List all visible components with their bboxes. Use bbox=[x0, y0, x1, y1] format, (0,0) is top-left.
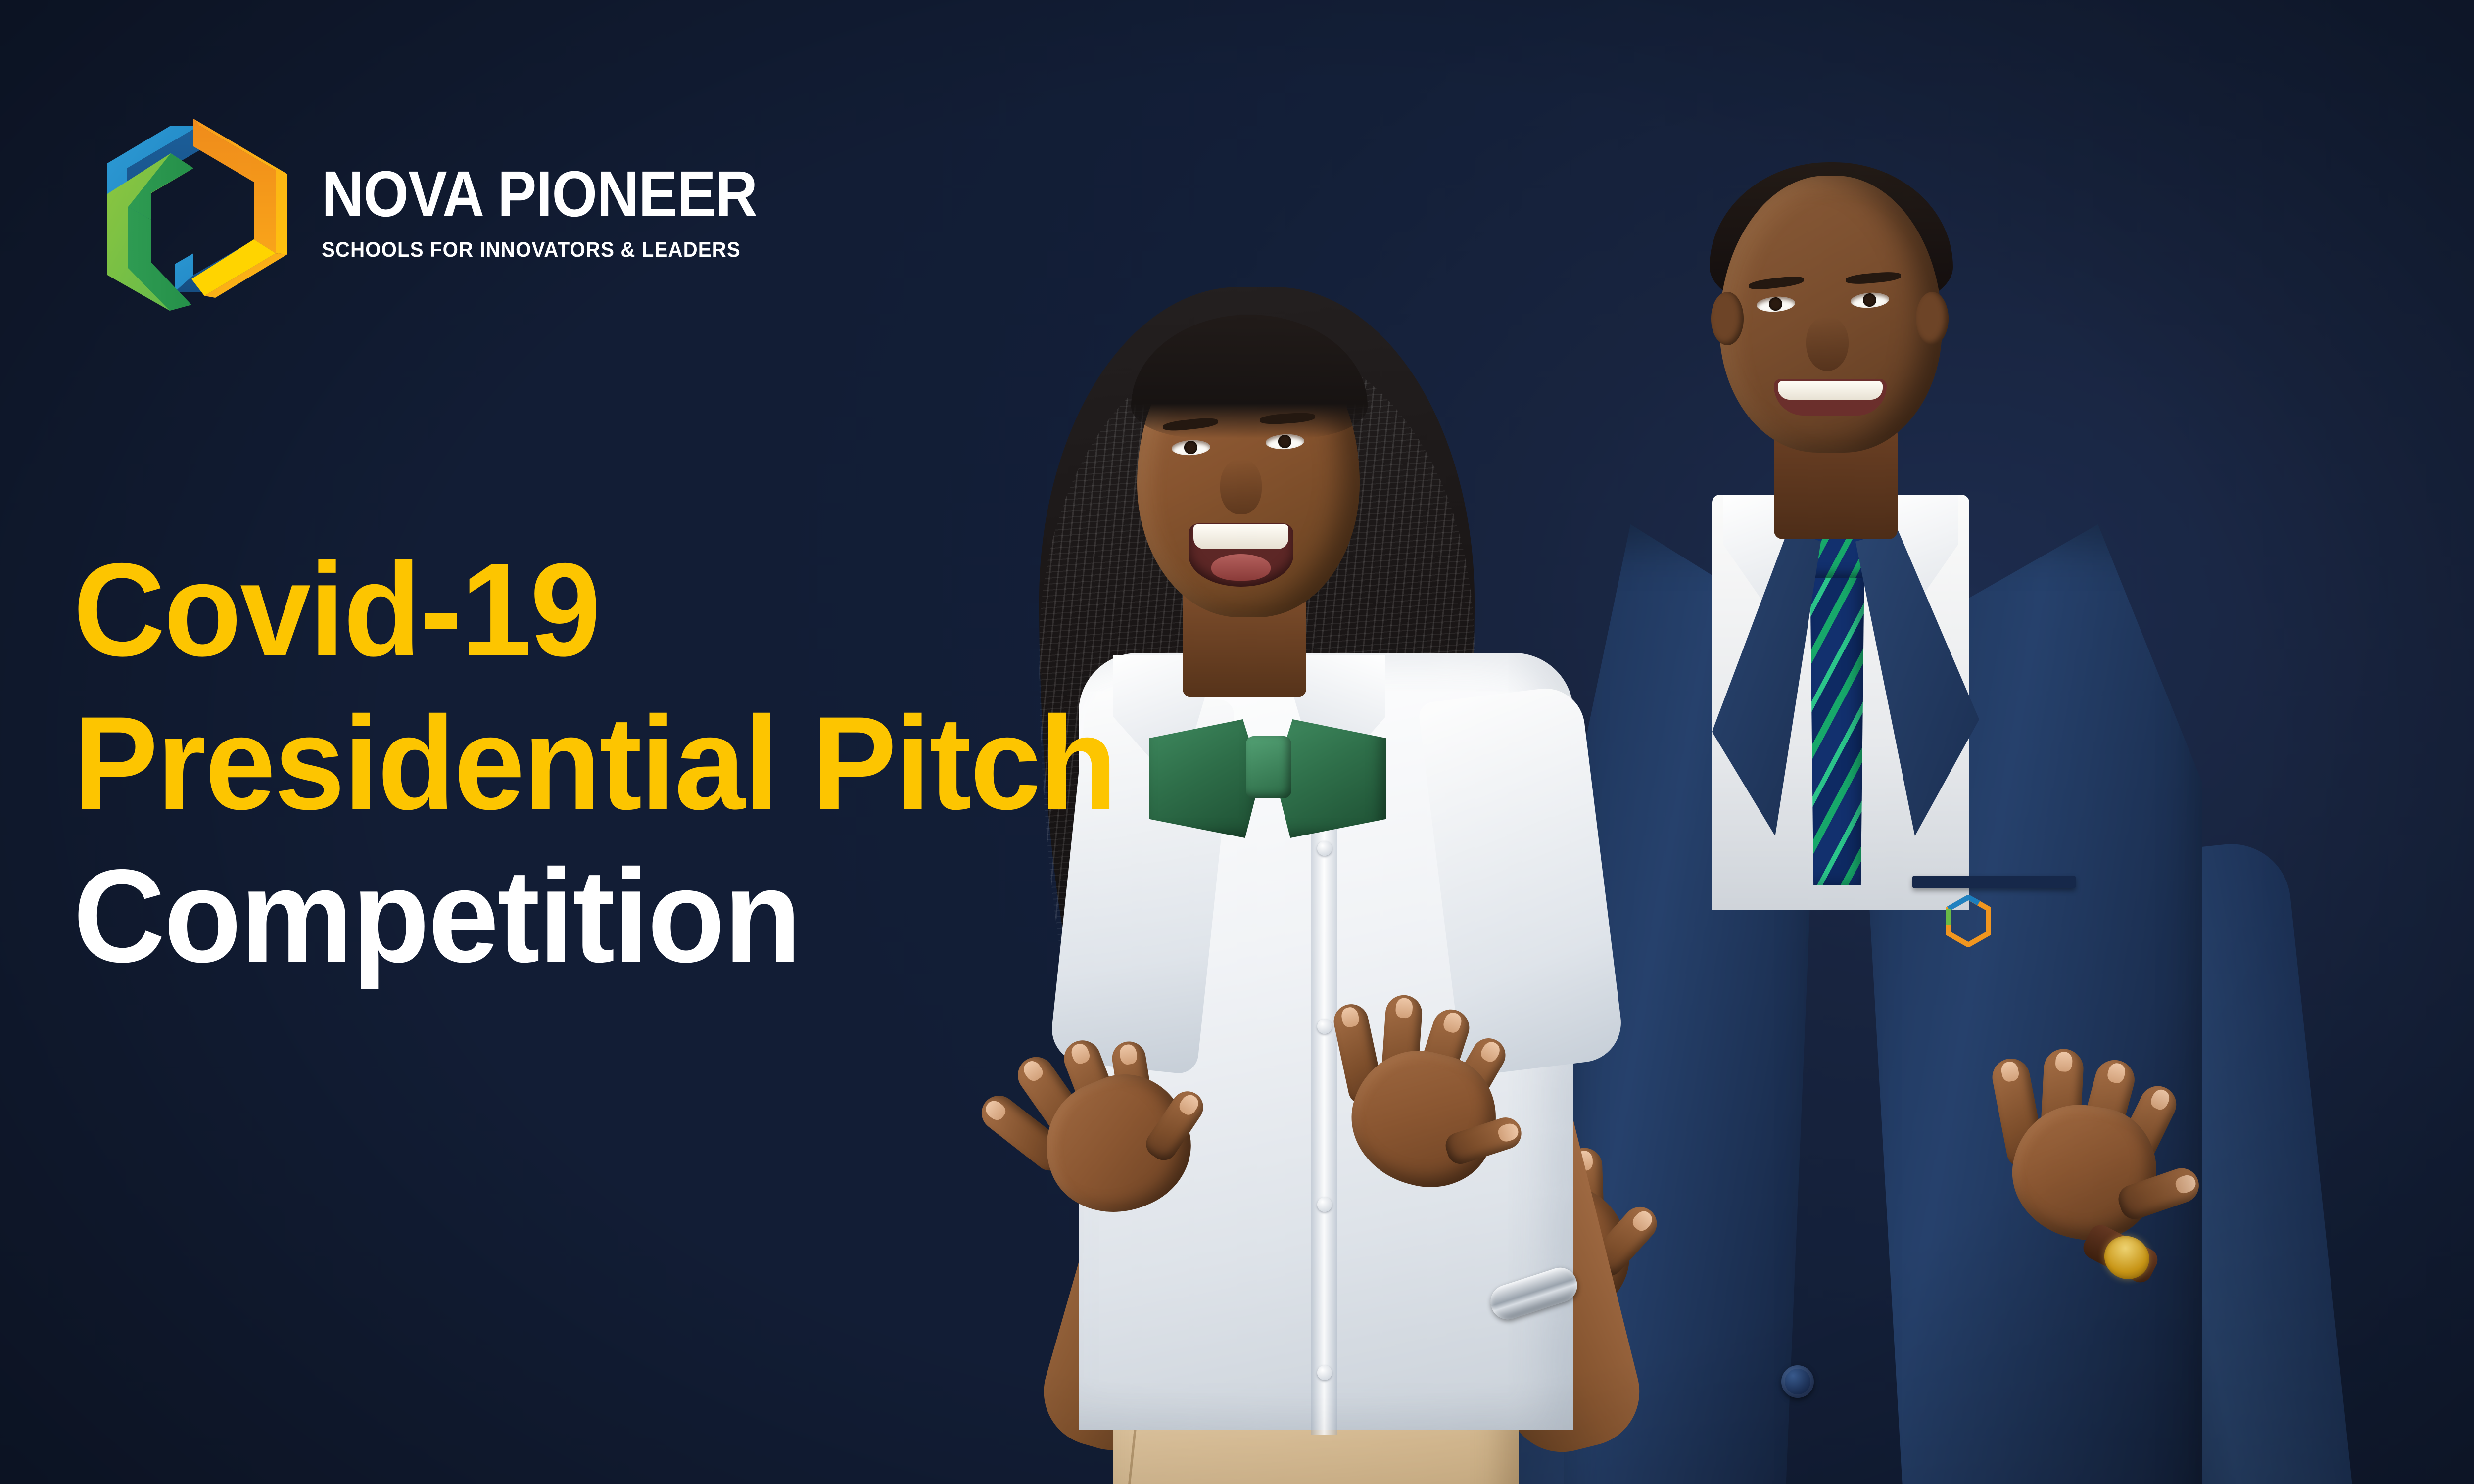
brand-wordmark: NOVA PIONEER SCHOOLS FOR INNOVATORS & LE… bbox=[322, 163, 866, 261]
brand-tagline: SCHOOLS FOR INNOVATORS & LEADERS bbox=[322, 239, 831, 261]
poster-headline: Covid-19 Presidential Pitch Competition bbox=[73, 533, 1360, 993]
headline-line-2: Presidential Pitch bbox=[73, 687, 1308, 840]
brand-name: NOVA PIONEER bbox=[322, 163, 811, 225]
nova-pioneer-hexagon-icon bbox=[96, 105, 287, 311]
headline-line-1: Covid-19 bbox=[73, 533, 1308, 687]
brand-logo-lockup[interactable]: NOVA PIONEER SCHOOLS FOR INNOVATORS & LE… bbox=[96, 105, 868, 313]
poster-canvas: NOVA PIONEER SCHOOLS FOR INNOVATORS & LE… bbox=[0, 0, 2474, 1484]
headline-line-3: Competition bbox=[73, 839, 1308, 993]
